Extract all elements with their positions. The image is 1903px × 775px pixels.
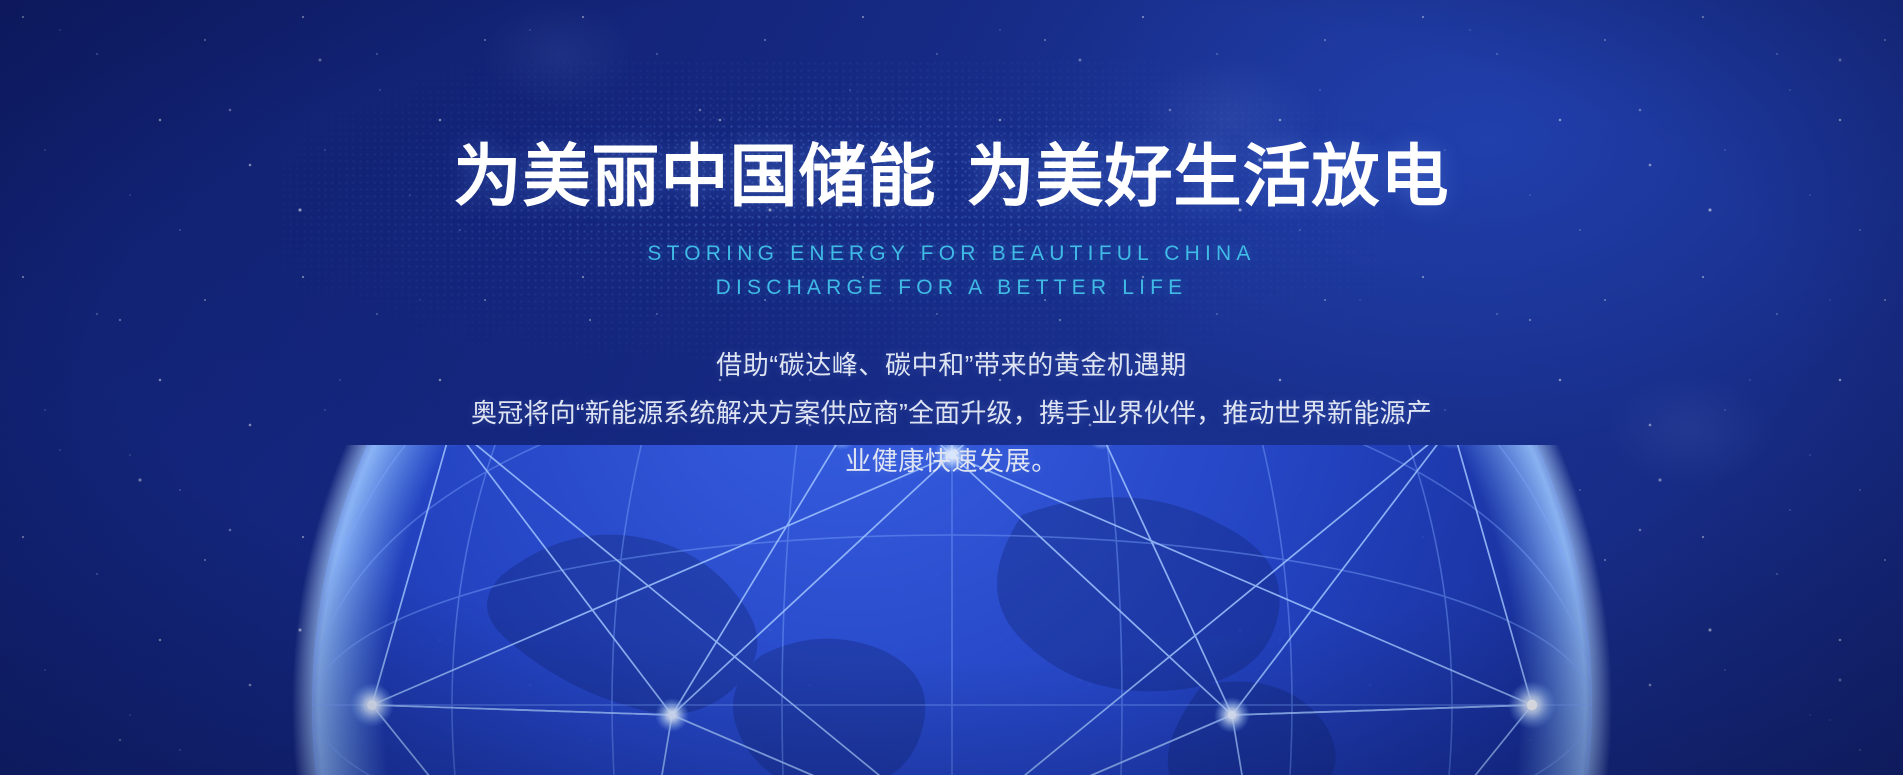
banner-content: 为美丽中国储能为美好生活放电 STORING ENERGY FOR BEAUTI… xyxy=(0,0,1903,775)
body-line-3: 业健康快速发展。 xyxy=(387,437,1517,485)
headline-part-2: 为美好生活放电 xyxy=(967,139,1450,215)
page-title: 为美丽中国储能为美好生活放电 xyxy=(453,143,1449,211)
body-line-1: 借助“碳达峰、碳中和”带来的黄金机遇期 xyxy=(387,341,1517,389)
hero-banner: 为美丽中国储能为美好生活放电 STORING ENERGY FOR BEAUTI… xyxy=(0,0,1903,775)
subtitle-english: STORING ENERGY FOR BEAUTIFUL CHINA DISCH… xyxy=(647,237,1255,305)
subtitle-english-line-1: STORING ENERGY FOR BEAUTIFUL CHINA xyxy=(647,237,1255,271)
headline-part-1: 为美丽中国储能 xyxy=(453,139,936,215)
subtitle-english-line-2: DISCHARGE FOR A BETTER LIFE xyxy=(647,271,1255,305)
body-line-2: 奥冠将向“新能源系统解决方案供应商”全面升级，携手业界伙伴，推动世界新能源产 xyxy=(387,389,1517,437)
banner-body-text: 借助“碳达峰、碳中和”带来的黄金机遇期 奥冠将向“新能源系统解决方案供应商”全面… xyxy=(387,341,1517,485)
